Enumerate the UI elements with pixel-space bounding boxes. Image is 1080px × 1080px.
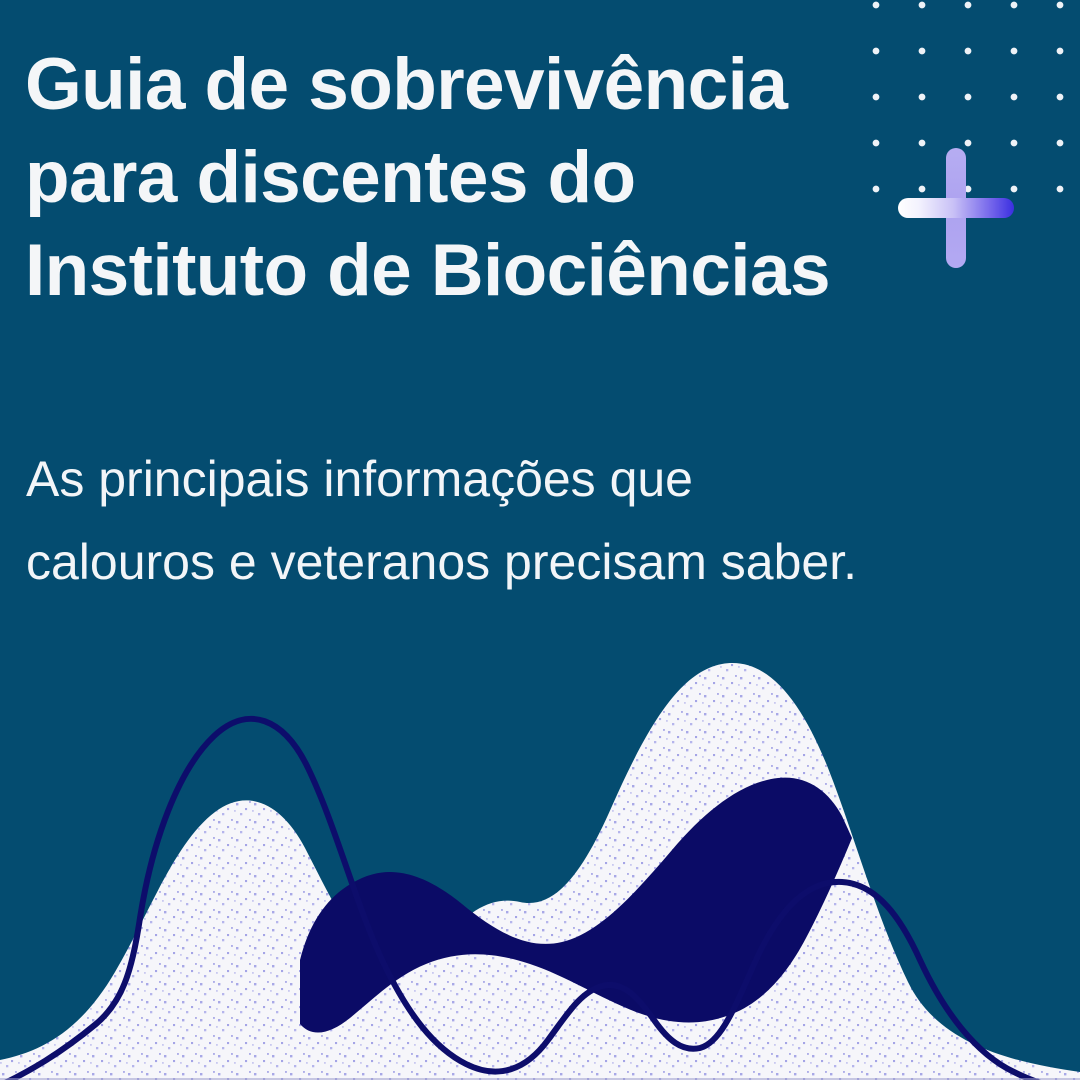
plus-icon — [898, 148, 1014, 268]
page-subtitle-line-2: calouros e veteranos precisam saber. — [26, 521, 1066, 604]
page-title-line-1: Guia de sobrevivência — [25, 38, 905, 131]
page-title-line-3: Instituto de Biociências — [25, 224, 905, 317]
plus-icon-horizontal-bar — [898, 198, 1014, 218]
page-title-line-2: para discentes do — [25, 131, 905, 224]
poster-canvas: Guia de sobrevivência para discentes do … — [0, 0, 1080, 1080]
density-area-shape — [0, 663, 1080, 1080]
page-subtitle: As principais informações que calouros e… — [26, 438, 1066, 604]
wave-graph-illustration — [0, 620, 1080, 1080]
page-subtitle-line-1: As principais informações que — [26, 438, 1066, 521]
page-title: Guia de sobrevivência para discentes do … — [25, 38, 905, 317]
